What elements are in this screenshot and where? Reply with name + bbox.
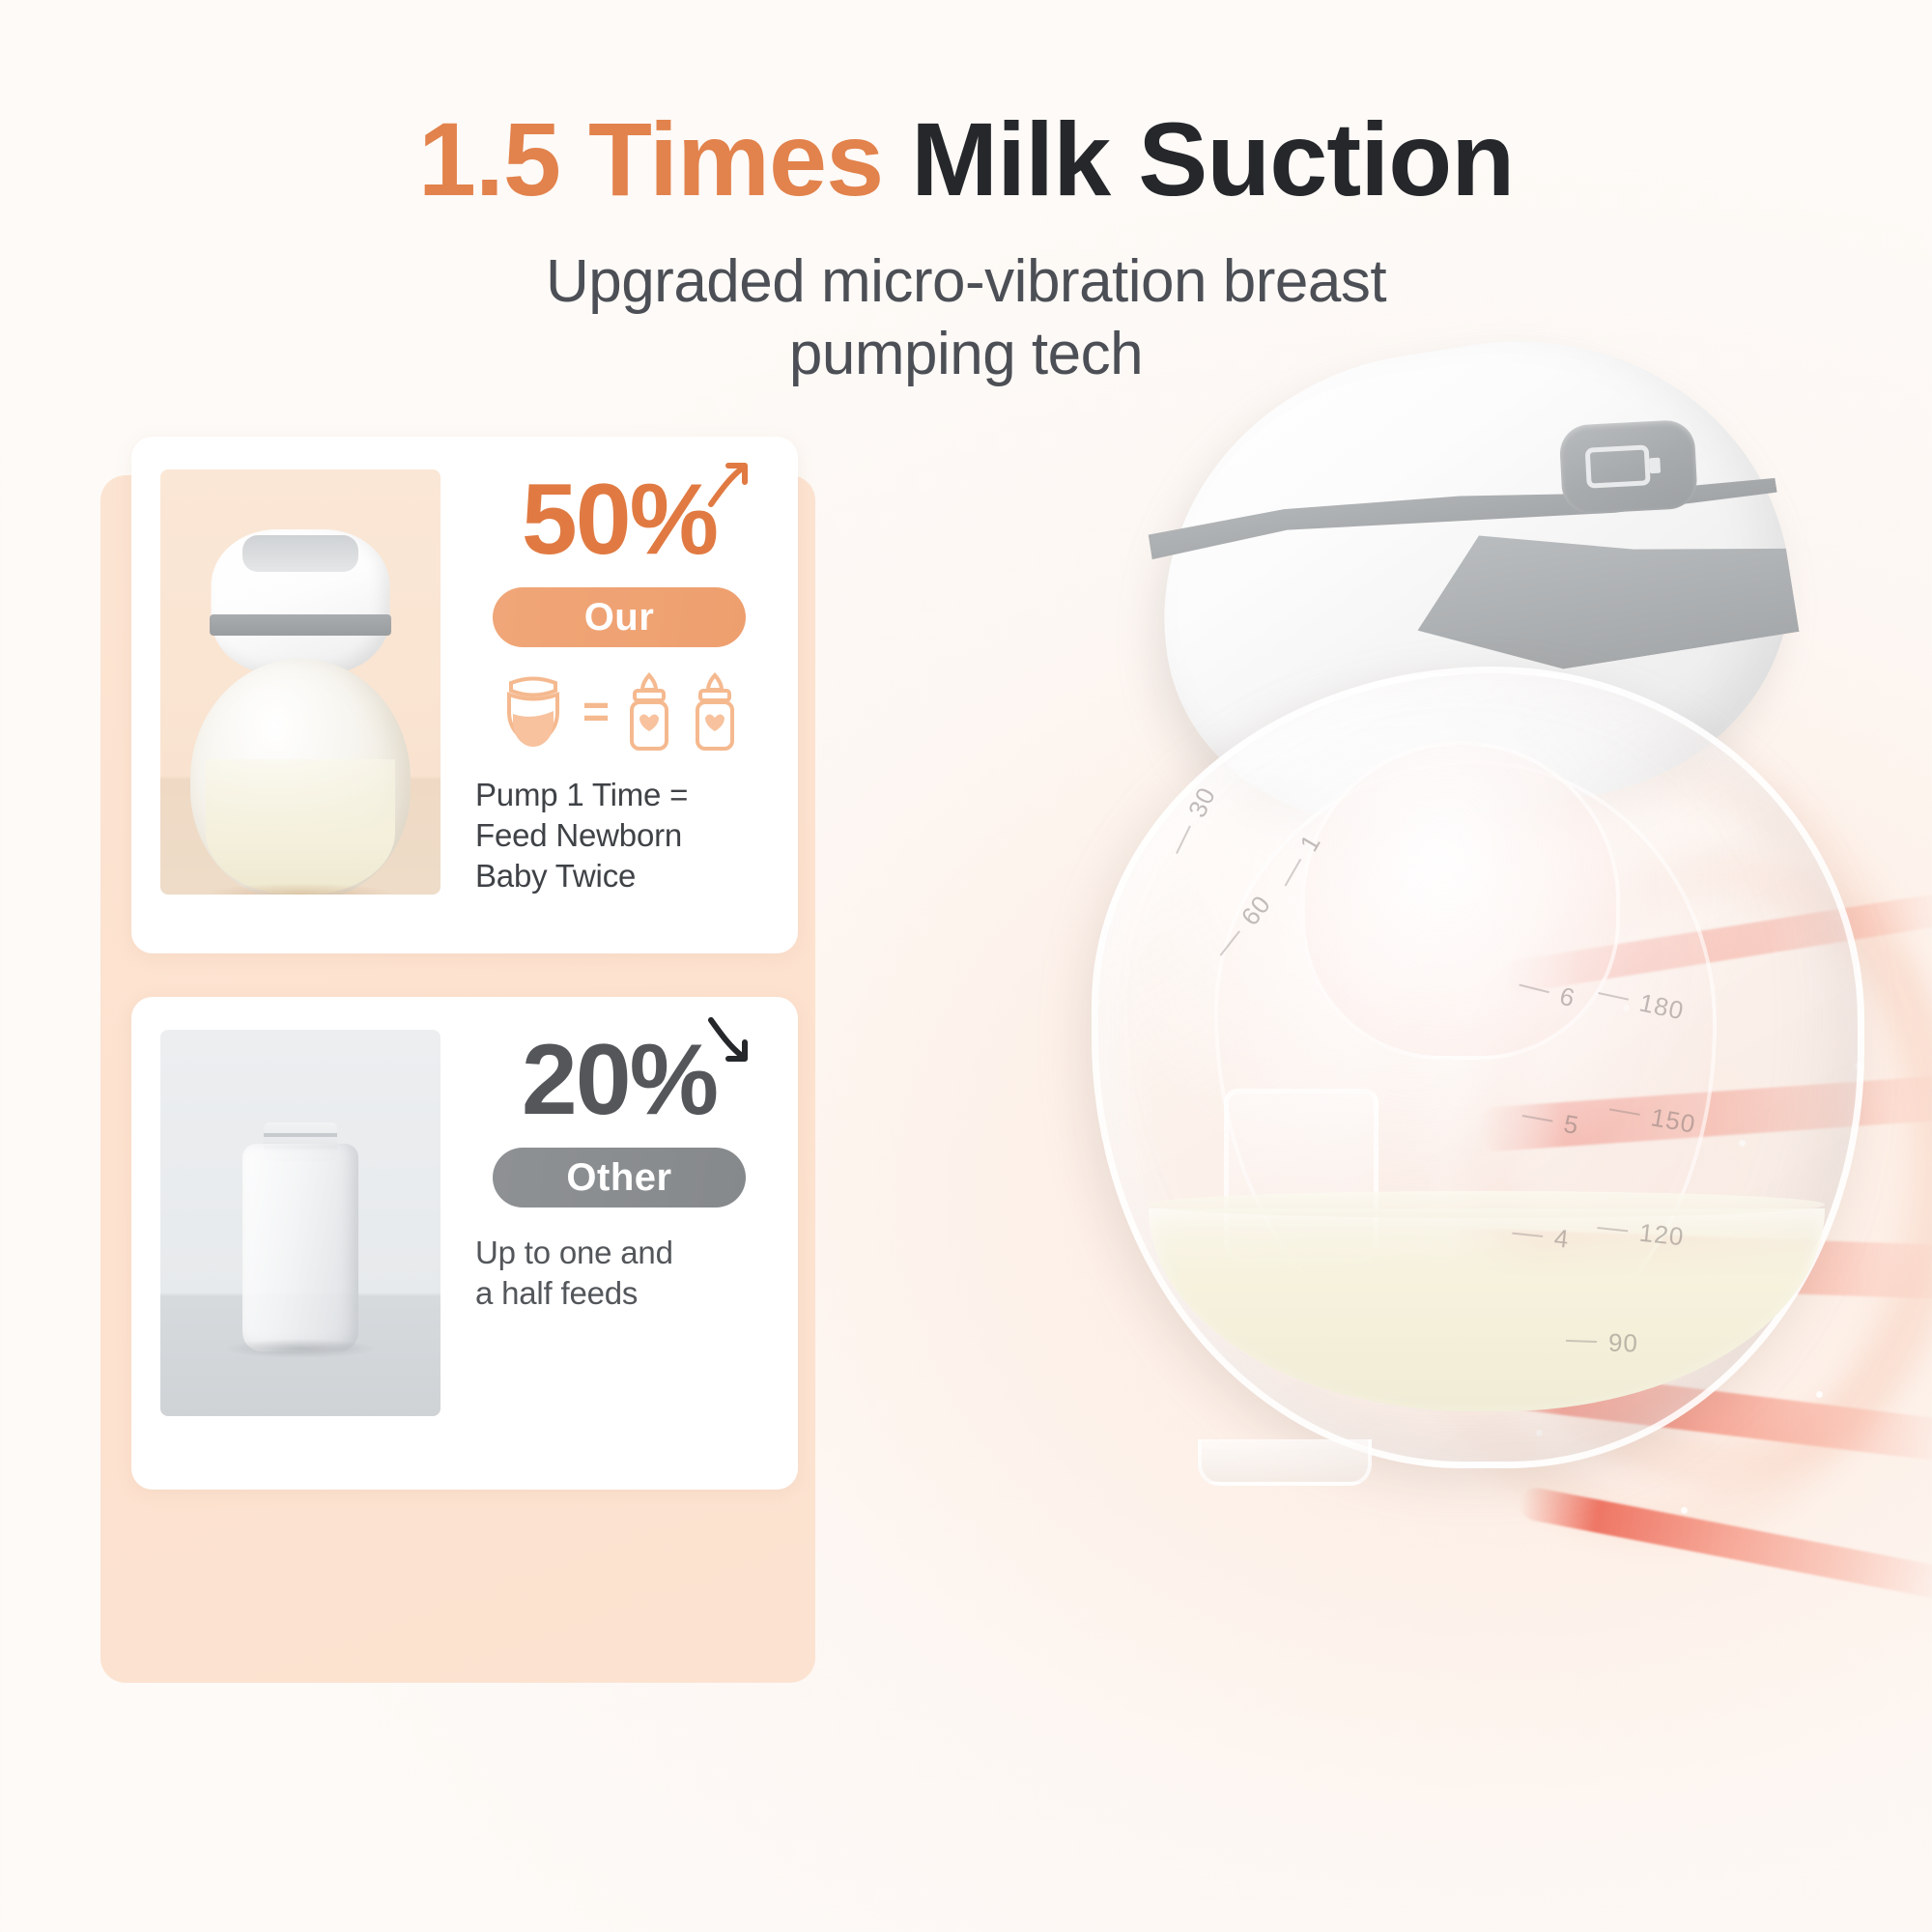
milk-cup-icon [497,671,569,754]
our-equivalence-icons: = [497,668,741,757]
comparison-card-other: 20% Other Up to one and a half feeds [131,997,798,1490]
volume-mark-90: 90 [1607,1327,1638,1358]
volume-mark-180: 180 [1636,988,1687,1027]
pump-collection-bowl: 30 60 180 150 120 90 6 5 4 1 [1092,667,1864,1468]
our-percent-row: 50% [522,469,717,570]
our-badge: Our [493,587,746,647]
oz-mark-4: 4 [1552,1223,1571,1254]
baby-bottle-icon [689,671,741,754]
our-caption: Pump 1 Time = Feed Newborn Baby Twice [469,775,688,897]
other-bottle-body [242,1144,358,1351]
oz-mark-5: 5 [1561,1109,1581,1141]
oz-mark-6: 6 [1556,981,1578,1014]
bowl-base-foot [1198,1439,1372,1486]
volume-mark-60: 60 [1236,890,1277,931]
equals-sign: = [582,690,610,736]
arrow-down-icon [705,1014,750,1063]
other-caption-line-1: Up to one and [475,1233,673,1273]
other-bottle-shadow [223,1339,378,1358]
other-bottle-photo [160,1030,440,1416]
comparison-card-our: 50% Our = [131,437,798,953]
comparison-panel: 50% Our = [100,475,815,1683]
mini-pump-milk [206,759,395,895]
mini-pump-top [242,535,358,572]
volume-scale: 30 60 180 150 120 90 6 5 4 1 [1098,673,1858,1462]
our-stats: 50% Our = [440,469,769,924]
our-caption-line-3: Baby Twice [475,856,688,896]
other-percent-row: 20% [522,1030,717,1130]
mini-pump-band [210,614,391,636]
other-stats: 20% Other Up to one and a half feeds [440,1030,769,1461]
other-caption-line-2: a half feeds [475,1273,673,1314]
volume-mark-120: 120 [1638,1218,1686,1253]
title-accent: 1.5 Times [418,100,883,217]
volume-mark-150: 150 [1649,1102,1698,1140]
product-illustration: 30 60 180 150 120 90 6 5 4 1 [744,290,1932,1835]
baby-bottle-icon [623,671,675,754]
oz-mark-1: 1 [1293,829,1327,857]
other-badge: Other [493,1148,746,1207]
power-button[interactable] [1558,419,1698,515]
other-caption: Up to one and a half feeds [469,1233,673,1314]
our-caption-line-2: Feed Newborn [475,815,688,856]
arrow-up-icon [705,462,750,510]
our-caption-line-1: Pump 1 Time = [475,775,688,815]
mini-pump-shadow [204,883,397,895]
volume-mark-30: 30 [1182,782,1222,822]
our-pump-photo [160,469,440,895]
page-title: 1.5 Times Milk Suction [0,104,1932,213]
title-main: Milk Suction [911,100,1514,217]
other-percent-value: 20% [522,1030,717,1130]
power-display-icon [1585,444,1651,488]
our-percent-value: 50% [522,469,717,570]
